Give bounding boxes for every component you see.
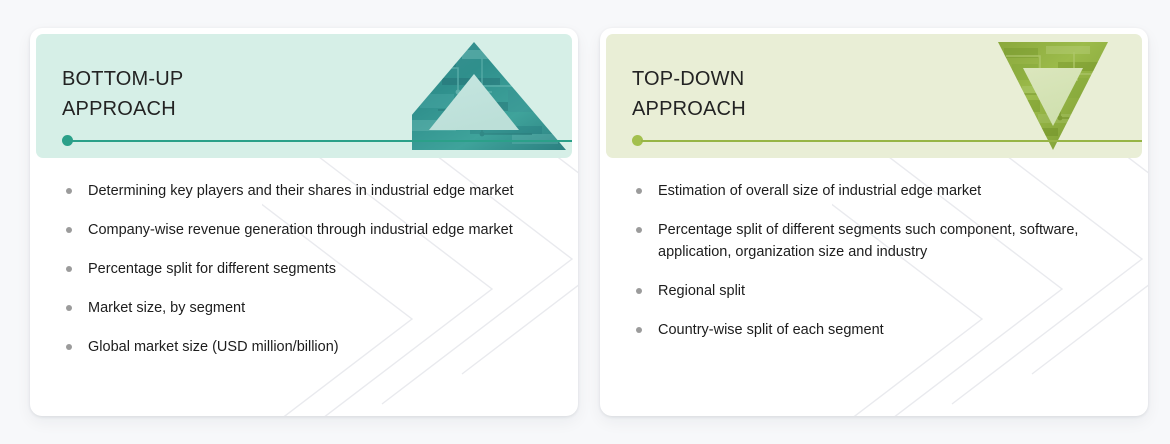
- bullet-dot-icon: [66, 305, 72, 311]
- list-item-label: Percentage split for different segments: [88, 258, 548, 280]
- top-down-card-header: TOP-DOWN APPROACH: [606, 34, 1142, 158]
- list-item-label: Company-wise revenue generation through …: [88, 219, 548, 241]
- bottom-up-card-header: BOTTOM-UP APPROACH: [36, 34, 572, 158]
- list-item: Percentage split for different segments: [58, 258, 548, 280]
- list-item: Company-wise revenue generation through …: [58, 219, 548, 241]
- list-item-label: Regional split: [658, 280, 1118, 302]
- list-item-label: Market size, by segment: [88, 297, 548, 319]
- bullet-dot-icon: [636, 327, 642, 333]
- top-down-approach-card: TOP-DOWN APPROACH Estimation of overall …: [600, 28, 1148, 416]
- bottom-up-approach-card: BOTTOM-UP APPROACH Determining key playe…: [30, 28, 578, 416]
- list-item-label: Global market size (USD million/billion): [88, 336, 548, 358]
- bullet-dot-icon: [636, 288, 642, 294]
- bullet-dot-icon: [66, 344, 72, 350]
- list-item-label: Country-wise split of each segment: [658, 319, 1118, 341]
- list-item-label: Estimation of overall size of industrial…: [658, 180, 1118, 202]
- list-item: Country-wise split of each segment: [628, 319, 1118, 341]
- top-down-bullet-list: Estimation of overall size of industrial…: [628, 180, 1118, 341]
- list-item: Estimation of overall size of industrial…: [628, 180, 1118, 202]
- top-down-card-title: TOP-DOWN APPROACH: [632, 64, 746, 124]
- bullet-dot-icon: [66, 227, 72, 233]
- list-item-label: Percentage split of different segments s…: [658, 219, 1118, 263]
- accent-line: [641, 140, 1142, 142]
- list-item: Market size, by segment: [58, 297, 548, 319]
- list-item-label: Determining key players and their shares…: [88, 180, 548, 202]
- list-item: Percentage split of different segments s…: [628, 219, 1118, 263]
- accent-line: [71, 140, 572, 142]
- bullet-dot-icon: [636, 188, 642, 194]
- list-item: Regional split: [628, 280, 1118, 302]
- bullet-dot-icon: [66, 266, 72, 272]
- list-item: Determining key players and their shares…: [58, 180, 548, 202]
- list-item: Global market size (USD million/billion): [58, 336, 548, 358]
- bottom-up-card-title: BOTTOM-UP APPROACH: [62, 64, 183, 124]
- bullet-dot-icon: [66, 188, 72, 194]
- bottom-up-bullet-list: Determining key players and their shares…: [58, 180, 548, 358]
- approach-cards-board: BOTTOM-UP APPROACH Determining key playe…: [0, 0, 1170, 444]
- top-down-accent-rule: [632, 140, 1142, 142]
- bottom-up-accent-rule: [62, 140, 572, 142]
- bullet-dot-icon: [636, 227, 642, 233]
